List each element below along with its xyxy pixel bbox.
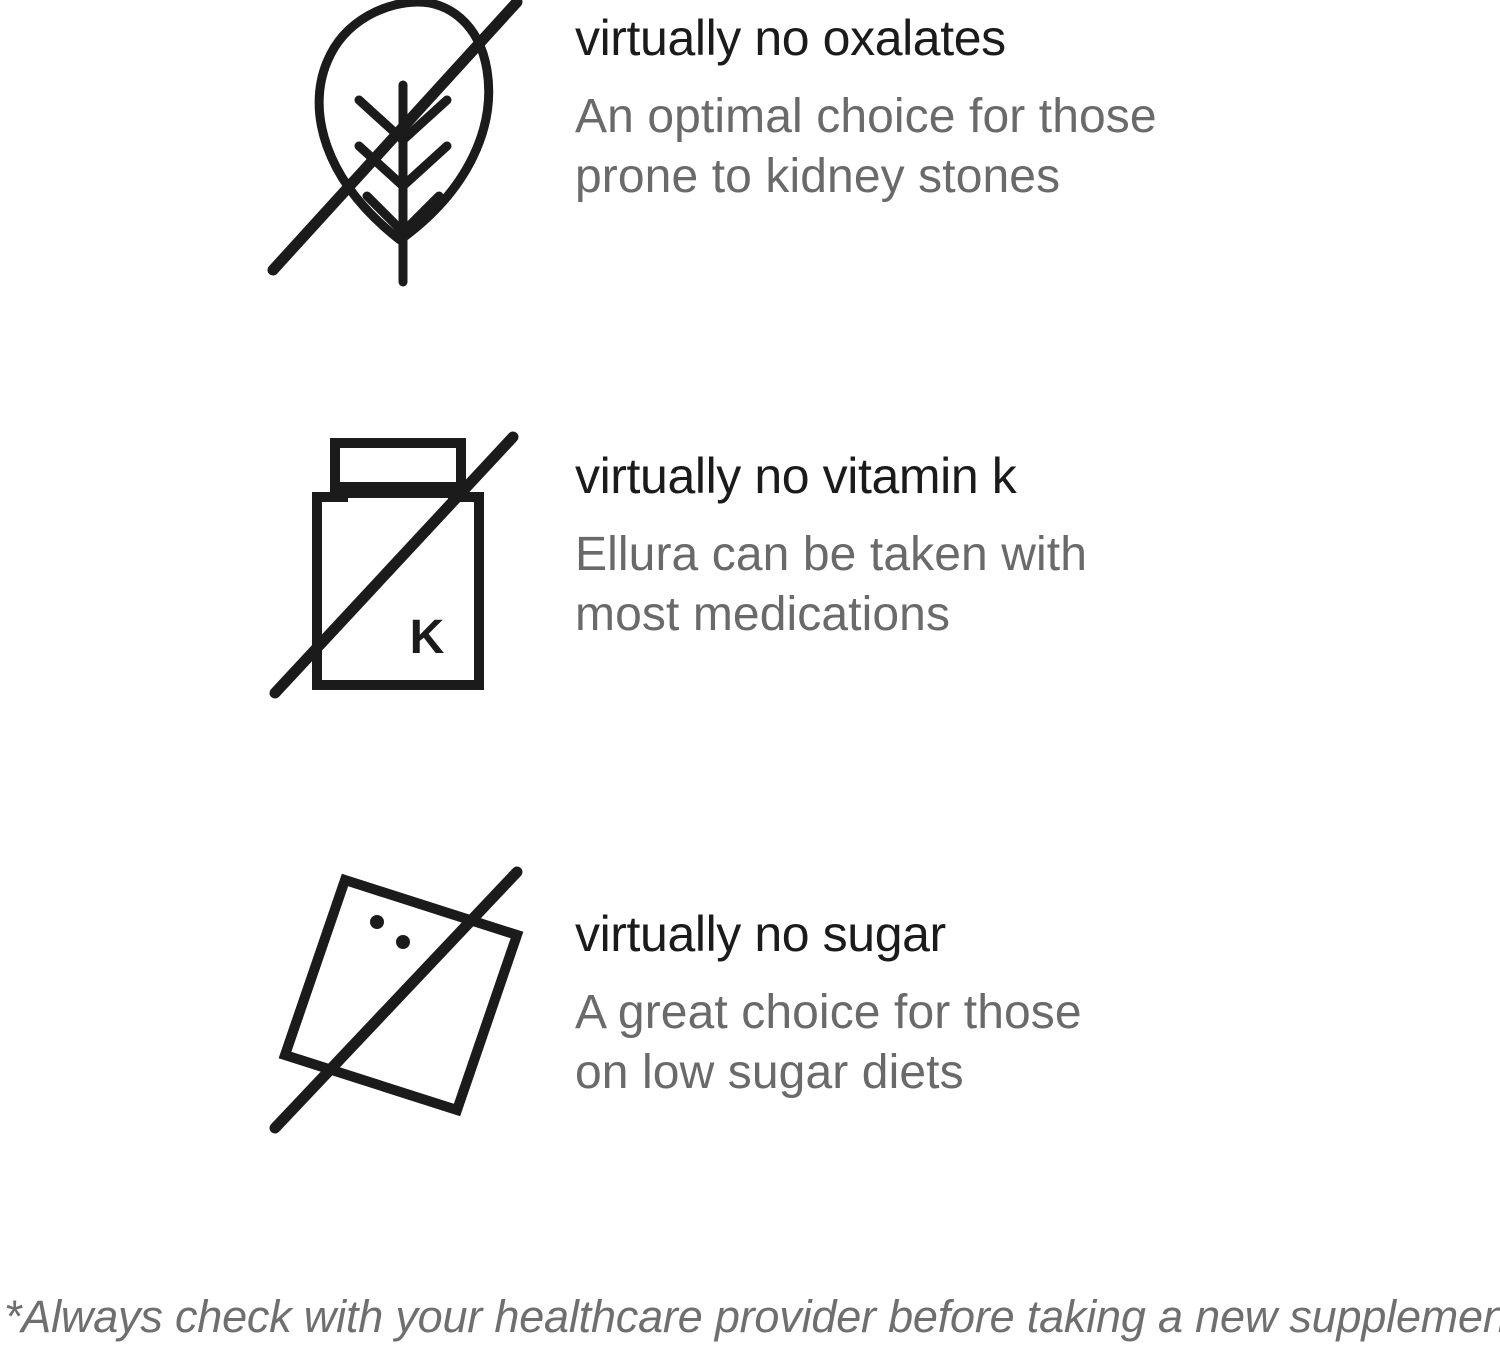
no-vitamin-k-bottle-icon: K	[255, 425, 535, 725]
sugar-grain-dot	[396, 935, 410, 949]
sugar-grain-dot	[370, 915, 384, 929]
feature-title: virtually no oxalates	[575, 12, 1355, 65]
feature-row: virtually no oxalates An optimal choice …	[0, 0, 1500, 290]
feature-text: virtually no oxalates An optimal choice …	[575, 12, 1355, 207]
feature-description: Ellura can be taken with most medication…	[575, 525, 1355, 646]
feature-description-line: on low sugar diets	[575, 1043, 1355, 1103]
feature-list: virtually no oxalates An optimal choice …	[0, 0, 1500, 1280]
feature-text: virtually no vitamin k Ellura can be tak…	[575, 450, 1355, 645]
no-sugar-packet-icon	[255, 860, 535, 1160]
feature-description: An optimal choice for those prone to kid…	[575, 87, 1355, 208]
feature-row: virtually no sugar A great choice for th…	[0, 860, 1500, 1160]
feature-row: K virtually no vitamin k Ellura can be t…	[0, 425, 1500, 725]
disclaimer-note: *Always check with your healthcare provi…	[4, 1292, 1500, 1342]
feature-description: A great choice for those on low sugar di…	[575, 983, 1355, 1104]
feature-description-line: most medications	[575, 585, 1355, 645]
feature-title: virtually no sugar	[575, 908, 1355, 961]
feature-title: virtually no vitamin k	[575, 450, 1355, 503]
feature-description-line: A great choice for those	[575, 983, 1355, 1043]
feature-description-line: Ellura can be taken with	[575, 525, 1355, 585]
bottle-letter-k: K	[410, 611, 445, 664]
feature-description-line: prone to kidney stones	[575, 147, 1355, 207]
feature-description-line: An optimal choice for those	[575, 87, 1355, 147]
no-leaf-icon	[255, 0, 535, 290]
feature-text: virtually no sugar A great choice for th…	[575, 908, 1355, 1103]
